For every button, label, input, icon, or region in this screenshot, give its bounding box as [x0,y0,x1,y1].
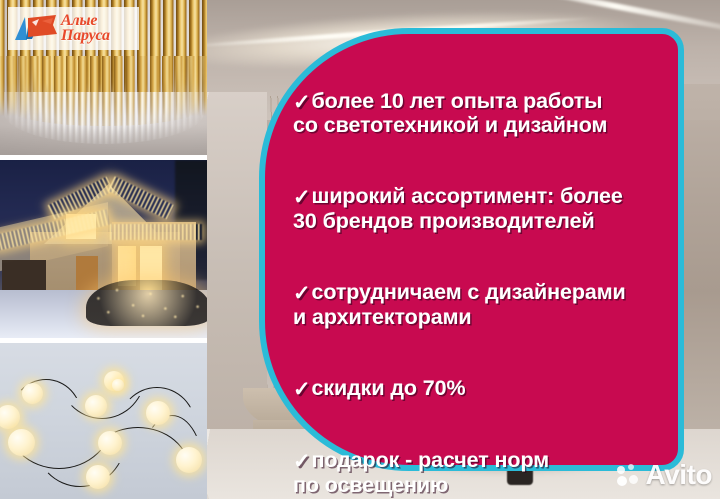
brand-logo: Алые Паруса [8,7,139,50]
benefit-text: подарок - расчет норм по освещению [293,448,549,497]
benefit-text: широкий ассортимент: более 30 брендов пр… [293,184,623,233]
left-photo-column: Алые Паруса [0,0,207,499]
benefits-panel: ✓более 10 лет опыта работы со светотехни… [259,28,684,471]
globe-bulb [85,395,107,417]
check-icon: ✓ [293,186,311,210]
chandelier-floor-shadow [0,125,207,155]
brand-logo-line2: Паруса [61,29,110,44]
globe-bulb [8,429,35,456]
globe-bulb [176,447,202,473]
avito-watermark: Avito [617,461,712,489]
check-icon: ✓ [293,91,311,115]
benefit-text: более 10 лет опыта работы со светотехник… [293,89,607,138]
check-icon: ✓ [293,378,311,402]
benefit-item-experience: ✓более 10 лет опыта работы со светотехни… [293,64,664,138]
benefit-item-gift: ✓подарок - расчет норм по освещению [293,423,664,497]
icicle-light-string-4 [110,224,202,240]
brand-logo-text: Алые Паруса [61,14,110,44]
benefit-item-designers: ✓сотрудничаем с дизайнерами и архитектор… [293,256,664,330]
house-christmas-lights-photo [0,160,207,338]
globe-bulb [146,401,170,425]
globe-bulb [98,431,122,455]
gold-tube-chandelier-photo: Алые Паруса [0,0,207,155]
globe-bulb-socket [112,379,124,391]
benefit-item-assortment: ✓широкий ассортимент: более 30 брендов п… [293,160,664,234]
avito-dots-icon [617,464,641,486]
check-icon: ✓ [293,450,311,474]
advertisement-canvas: Алые Паруса [0,0,720,499]
sailboat-logo-icon [12,12,58,46]
globe-string-lights-photo [0,343,207,499]
benefit-text: скидки до 70% [312,376,466,400]
hedge-light-dots [86,280,207,326]
benefit-item-discounts: ✓скидки до 70% [293,352,664,401]
check-icon: ✓ [293,282,311,306]
benefit-text: сотрудничаем с дизайнерами и архитектора… [293,280,626,329]
globe-bulb [22,383,43,404]
globe-bulb [86,465,110,489]
avito-label: Avito [646,461,712,489]
